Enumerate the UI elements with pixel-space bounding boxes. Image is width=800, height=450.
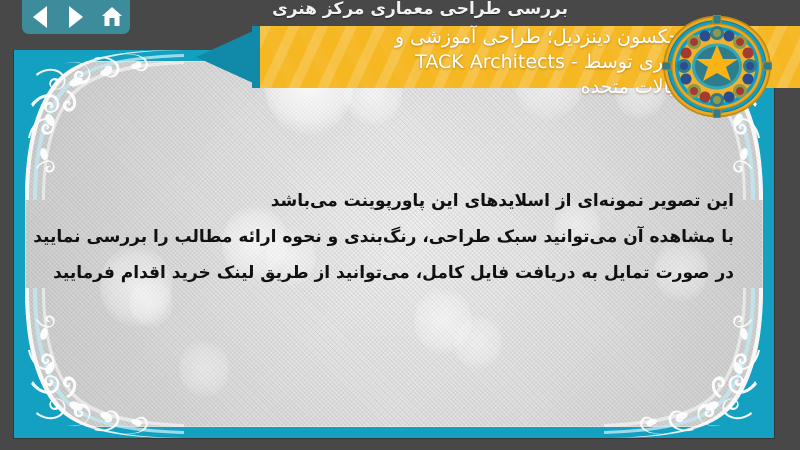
persian-medallion-ornament [662, 15, 772, 118]
body-line-1: این تصویر نمونه‌ای از اسلایدهای این پاور… [74, 183, 734, 219]
presentation-viewer: این تصویر نمونه‌ای از اسلایدهای این پاور… [0, 0, 800, 450]
chevron-left-icon [33, 6, 47, 28]
prev-slide-button[interactable] [27, 4, 53, 30]
body-line-3: در صورت تمایل به دریافت فایل کامل، می‌تو… [74, 255, 734, 291]
home-button[interactable] [99, 4, 125, 30]
chevron-right-icon [69, 6, 83, 28]
next-slide-button[interactable] [63, 4, 89, 30]
subtitle: جکسون دینزدیل؛ طراحی آموزشی و هنری توسط … [210, 25, 680, 100]
bokeh-circle [179, 340, 229, 398]
body-line-2: با مشاهده آن می‌توانید سبک طراحی، رنگ‌بن… [74, 219, 734, 255]
slide-body-text: این تصویر نمونه‌ای از اسلایدهای این پاور… [74, 183, 734, 291]
subtitle-line-1: جکسون دینزدیل؛ طراحی آموزشی و [210, 25, 680, 50]
slide-navigation-bar[interactable] [22, 0, 130, 34]
home-icon [100, 5, 124, 29]
subtitle-line-2: هنری توسط - TACK Architects [210, 50, 680, 75]
subtitle-line-3: ایالات متحده [210, 75, 680, 100]
bokeh-circle [454, 315, 502, 369]
page-title: بررسی طراحی معماری مرکز هنری [148, 0, 568, 20]
slide-canvas: این تصویر نمونه‌ای از اسلایدهای این پاور… [14, 50, 774, 438]
